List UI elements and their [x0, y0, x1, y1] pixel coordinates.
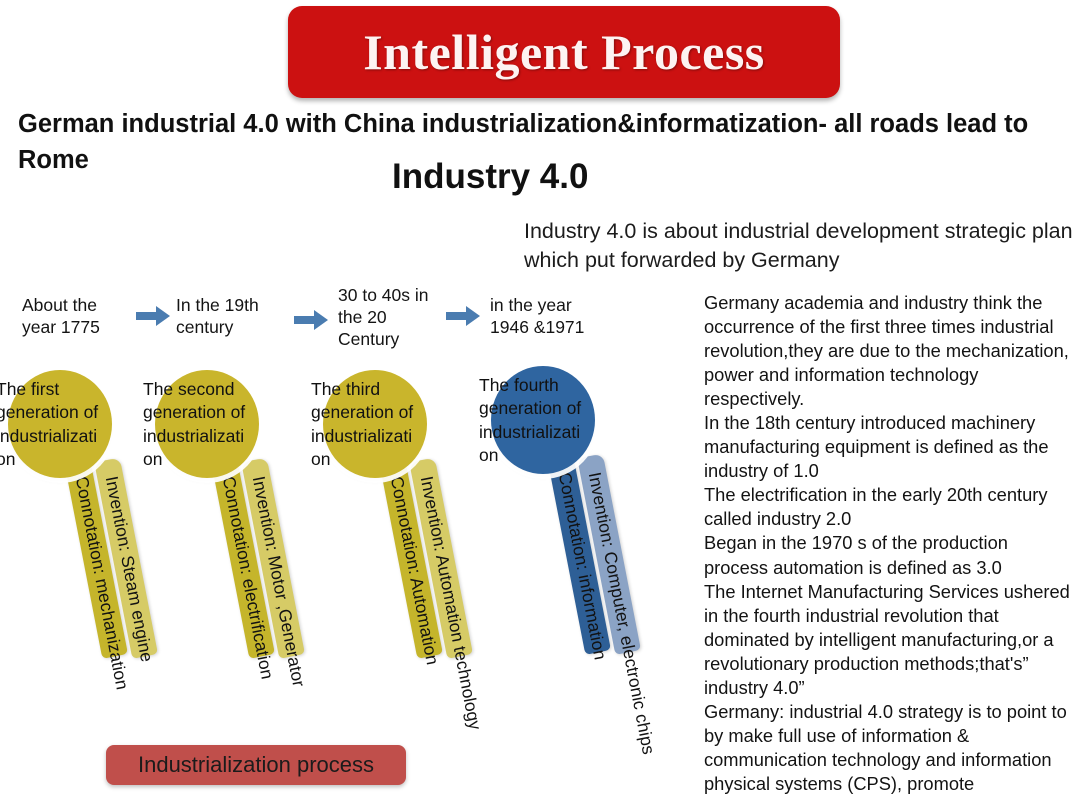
explanation-paragraph-6: Germany: industrial 4.0 strategy is to p…: [704, 700, 1074, 800]
timeline-label-2: In the 19th century: [176, 294, 280, 338]
explanation-paragraph-5: The Internet Manufacturing Services ushe…: [704, 580, 1074, 700]
industrialization-process-badge: Industrialization process: [106, 745, 406, 785]
slide-canvas: Intelligent Process German industrial 4.…: [0, 0, 1074, 800]
timeline-label-3: 30 to 40s in the 20 Century: [338, 284, 446, 351]
explanation-text: Germany academia and industry think the …: [704, 291, 1074, 800]
explanation-paragraph-1: Germany academia and industry think the …: [704, 291, 1074, 411]
timeline: About the year 1775In the 19th century30…: [0, 288, 700, 356]
arrow-right-icon: [294, 310, 328, 330]
explanation-paragraph-3: The electrification in the early 20th ce…: [704, 483, 1074, 531]
title-banner-label: Intelligent Process: [363, 23, 765, 81]
arrow-right-icon: [446, 306, 480, 326]
timeline-label-1: About the year 1775: [22, 294, 126, 338]
generation-bubble-label: The third generation of industrializati …: [311, 378, 435, 471]
explanation-paragraph-4: Began in the 1970 s of the production pr…: [704, 531, 1074, 579]
industry-heading: Industry 4.0: [392, 157, 588, 197]
explanation-paragraph-2: In the 18th century introduced machinery…: [704, 411, 1074, 483]
industrialization-process-label: Industrialization process: [138, 752, 374, 778]
title-banner: Intelligent Process: [288, 6, 840, 98]
generation-bubble-label: The fourth generation of industrializati…: [479, 374, 603, 467]
timeline-label-4: in the year 1946 &1971: [490, 294, 594, 338]
generation-bubble-label: The first generation of industrializati …: [0, 378, 120, 471]
generation-bubble-label: The second generation of industrializati…: [143, 378, 267, 471]
arrow-right-icon: [136, 306, 170, 326]
subtitle-text: Industry 4.0 is about industrial develop…: [524, 217, 1074, 274]
